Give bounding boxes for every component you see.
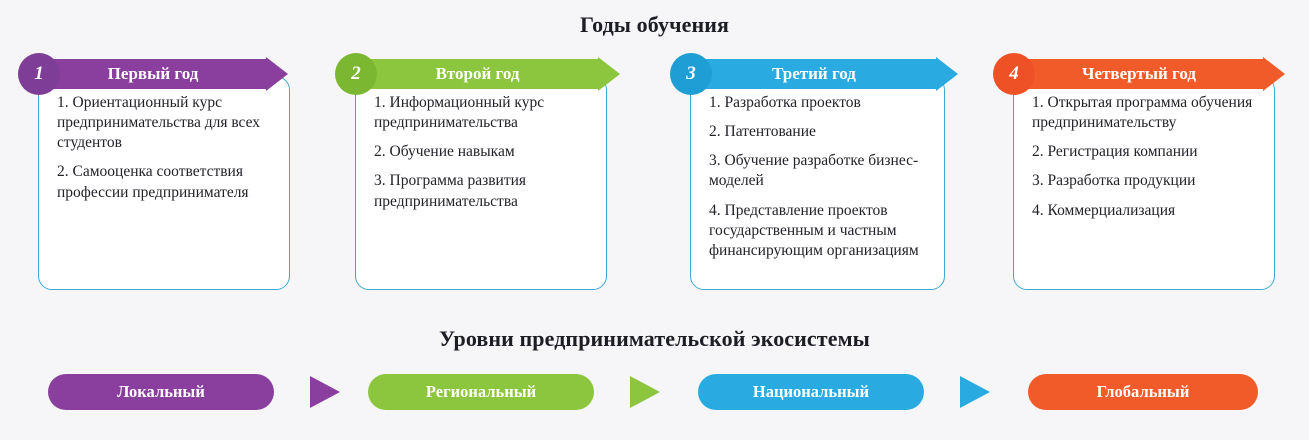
level-pill-national[interactable]: Национальный [698,374,924,410]
year-card-1: 1. Ориентационный курс предпринимательст… [38,76,290,290]
year-card-4-body: 1. Открытая программа обучения предприни… [1014,77,1274,231]
arrow-banner-shape-1 [38,57,288,91]
arrow-banner-shape-4 [1013,57,1285,91]
level-pill-regional[interactable]: Региональный [368,374,594,410]
page-title-levels: Уровни предпринимательской экосистемы [0,326,1309,352]
level-pill-local[interactable]: Локальный [48,374,274,410]
infographic-stage: Годы обучения 1. Ориентационный курс пре… [0,0,1309,440]
page-title-years: Годы обучения [0,12,1309,38]
year-card-4-item-3: 3. Разработка продукции [1032,171,1260,191]
year-badge-3: 3 [670,53,712,95]
arrow-banner-shape-2 [355,57,620,91]
year-card-1-item-2: 2. Самооценка соответствия профессии пре… [57,162,275,202]
year-card-1-body: 1. Ориентационный курс предпринимательст… [39,77,289,213]
year-card-2-item-1: 1. Информационный курс предпринимательст… [374,93,592,133]
year-card-2-item-2: 2. Обучение навыкам [374,142,592,162]
year-header-1[interactable]: Первый год 1 [38,57,288,91]
year-card-2: 1. Информационный курс предпринимательст… [355,76,607,290]
year-card-4-item-1: 1. Открытая программа обучения предприни… [1032,93,1260,133]
year-card-3-item-4: 4. Представление проектов государственны… [709,201,930,261]
level-arrow-2-icon [630,376,660,408]
year-card-3-item-2: 2. Патентование [709,122,930,142]
level-arrow-1-icon [310,376,340,408]
year-card-1-item-1: 1. Ориентационный курс предпринимательст… [57,93,275,153]
year-card-2-body: 1. Информационный курс предпринимательст… [356,77,606,222]
year-header-3[interactable]: Третий год 3 [690,57,958,91]
year-card-2-item-3: 3. Программа развития предпринимательств… [374,171,592,211]
year-card-4-item-2: 2. Регистрация компании [1032,142,1260,162]
year-card-4-item-4: 4. Коммерциализация [1032,201,1260,221]
level-arrow-3-icon [960,376,990,408]
year-card-3: 1. Разработка проектов 2. Патентование 3… [690,76,945,290]
level-pill-global[interactable]: Глобальный [1028,374,1258,410]
year-header-2[interactable]: Второй год 2 [355,57,620,91]
year-badge-2: 2 [335,53,377,95]
year-header-4[interactable]: Четвертый год 4 [1013,57,1285,91]
year-card-3-item-3: 3. Обучение разработке бизнес-моделей [709,151,930,191]
year-card-4: 1. Открытая программа обучения предприни… [1013,76,1275,290]
year-badge-1: 1 [18,53,60,95]
year-badge-4: 4 [993,53,1035,95]
year-card-3-body: 1. Разработка проектов 2. Патентование 3… [691,77,944,271]
arrow-banner-shape-3 [690,57,958,91]
year-card-3-item-1: 1. Разработка проектов [709,93,930,113]
